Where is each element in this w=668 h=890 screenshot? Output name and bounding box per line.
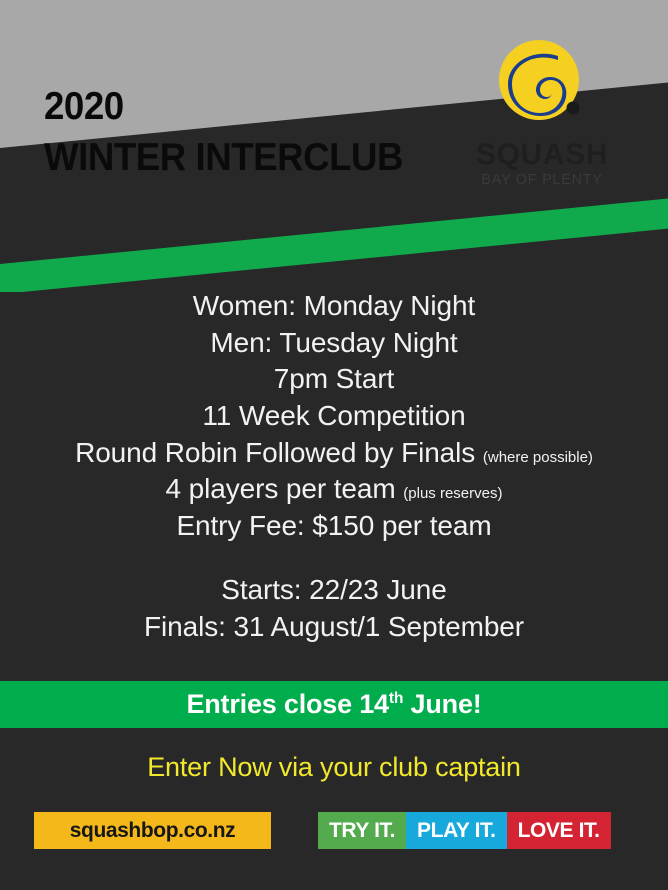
poster-root: 2020 WINTER INTERCLUB SQUASH BAY OF PLEN… <box>0 0 668 890</box>
tagline-group: TRY IT. PLAY IT. LOVE IT. <box>318 812 611 849</box>
entries-close-banner: Entries close 14th June! <box>0 681 668 728</box>
detail-text: Entry Fee: $150 per team <box>176 510 491 541</box>
poster-header: 2020 WINTER INTERCLUB SQUASH BAY OF PLEN… <box>0 0 668 292</box>
detail-line: 11 Week Competition <box>0 398 668 435</box>
entries-close-prefix: Entries close 14 <box>186 689 388 719</box>
cta-text: Enter Now via your club captain <box>147 752 521 782</box>
entries-close-text: Entries close 14th June! <box>186 689 481 720</box>
key-dates: Starts: 22/23 June Finals: 31 August/1 S… <box>0 571 668 645</box>
tag-try-it: TRY IT. <box>318 812 406 849</box>
website-url-label: squashbop.co.nz <box>70 819 236 843</box>
detail-line: Men: Tuesday Night <box>0 325 668 362</box>
page-title: 2020 WINTER INTERCLUB <box>44 86 426 179</box>
detail-text: 7pm Start <box>274 363 394 394</box>
detail-text: Men: Tuesday Night <box>210 327 457 358</box>
title-main: WINTER INTERCLUB <box>44 137 403 179</box>
date-line-finals: Finals: 31 August/1 September <box>0 608 668 645</box>
detail-note: (plus reserves) <box>403 485 502 502</box>
detail-text: Round Robin Followed by Finals <box>75 437 475 468</box>
website-url-badge[interactable]: squashbop.co.nz <box>34 812 271 849</box>
detail-text: Women: Monday Night <box>193 290 475 321</box>
detail-line: 4 players per team (plus reserves) <box>0 471 668 508</box>
date-line-start: Starts: 22/23 June <box>0 571 668 608</box>
detail-line: 7pm Start <box>0 361 668 398</box>
logo: SQUASH BAY OF PLENTY <box>468 34 616 188</box>
detail-note: (where possible) <box>483 449 593 466</box>
detail-text: 11 Week Competition <box>202 400 465 431</box>
detail-line: Round Robin Followed by Finals (where po… <box>0 435 668 472</box>
detail-line: Entry Fee: $150 per team <box>0 508 668 545</box>
tag-love-it: LOVE IT. <box>507 812 611 849</box>
logo-subtitle: BAY OF PLENTY <box>468 173 616 188</box>
detail-text: 4 players per team <box>166 473 396 504</box>
poster-footer: squashbop.co.nz TRY IT. PLAY IT. LOVE IT… <box>0 812 668 852</box>
entries-close-ordinal: th <box>389 690 403 707</box>
detail-line: Women: Monday Night <box>0 288 668 325</box>
koru-spiral-logo-icon <box>490 34 594 138</box>
call-to-action: Enter Now via your club captain <box>0 752 668 783</box>
title-year: 2020 <box>44 86 403 128</box>
tag-play-it: PLAY IT. <box>406 812 507 849</box>
logo-wordmark: SQUASH <box>468 140 616 170</box>
entries-close-suffix: June! <box>403 689 481 719</box>
competition-details: Women: Monday Night Men: Tuesday Night 7… <box>0 288 668 545</box>
